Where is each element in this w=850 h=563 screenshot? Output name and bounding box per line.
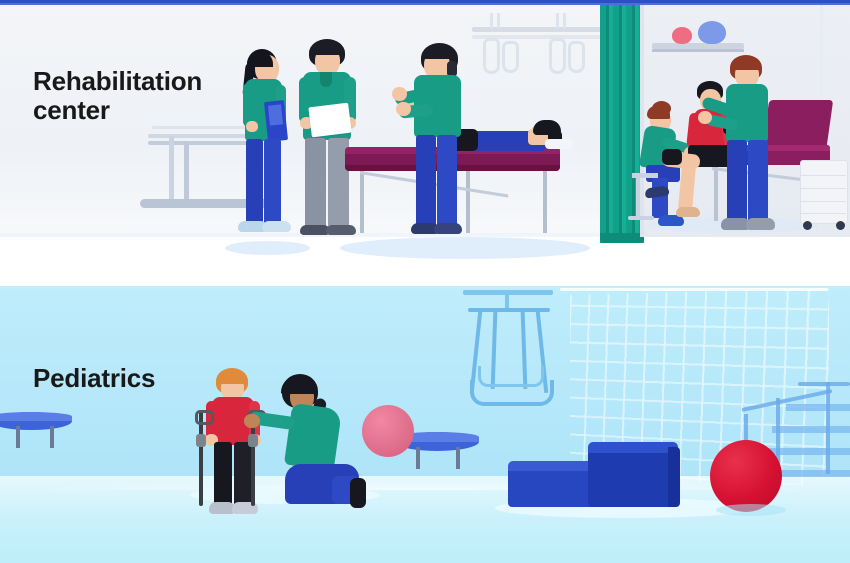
scrub-neckline <box>320 72 332 87</box>
floor-shadow <box>340 237 590 259</box>
knee-brace <box>662 149 682 165</box>
panel-rehabilitation: Rehabilitation center <box>0 5 850 286</box>
therapist-shoe <box>350 478 366 508</box>
teal-curtain-hem <box>600 233 644 243</box>
floor-shadow <box>225 241 310 255</box>
right-room-edge <box>640 5 644 237</box>
head-pillow <box>545 139 573 149</box>
therapy-ball-red <box>710 440 782 512</box>
exercise-ball-pink-icon <box>672 27 692 44</box>
exercise-ball-blue-icon <box>698 21 726 44</box>
stool-leg <box>636 177 640 219</box>
paper-notes <box>308 103 351 138</box>
stool-base <box>628 216 654 220</box>
panel-title-rehabilitation: Rehabilitation center <box>33 67 243 125</box>
screenshot-root: Rehabilitation center <box>0 0 850 563</box>
crutch-grip <box>248 434 258 447</box>
crutch-grip <box>196 434 206 447</box>
panel-pediatrics: Pediatrics <box>0 286 850 563</box>
therapy-ball-pink <box>362 405 414 457</box>
panel-title-pediatrics: Pediatrics <box>33 364 155 393</box>
ball-shadow <box>716 504 786 516</box>
